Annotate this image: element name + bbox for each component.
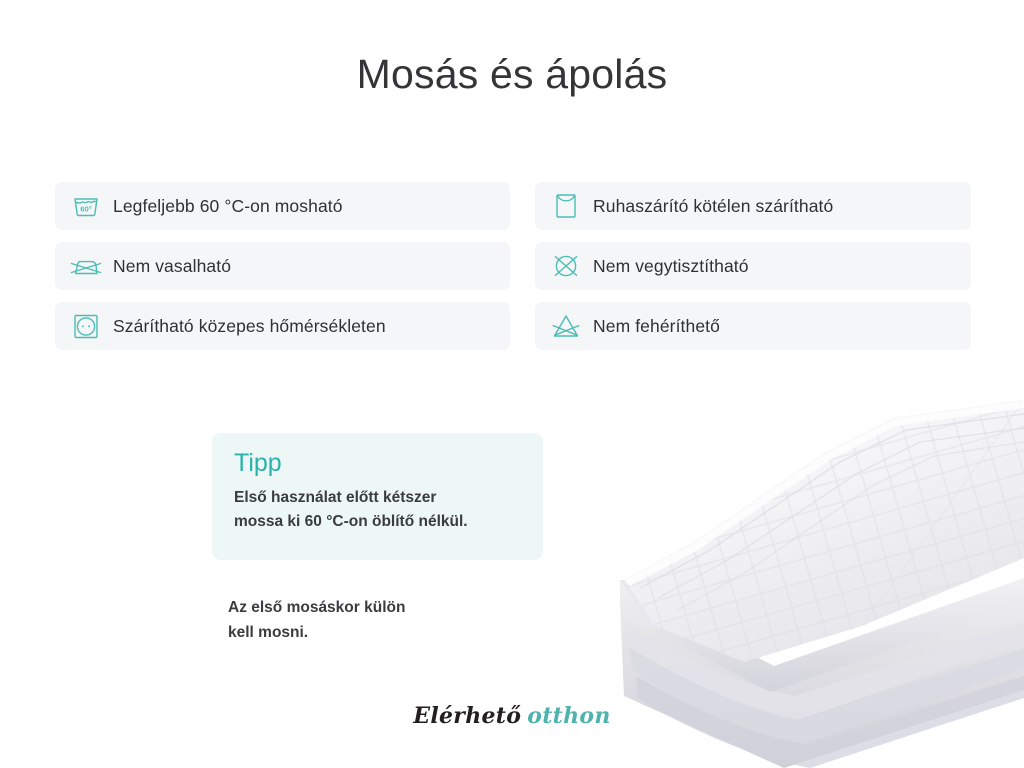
care-label-do-not-bleach: Nem fehéríthető	[535, 302, 971, 350]
tumble-dry-medium-icon	[69, 309, 103, 343]
do-not-dry-clean-icon	[549, 249, 583, 283]
care-label-text: Ruhaszárító kötélen szárítható	[593, 196, 833, 217]
care-label-text: Nem fehéríthető	[593, 316, 720, 337]
brand-logo: Elérhetőotthon	[0, 703, 1024, 729]
care-label-line-dry: Ruhaszárító kötélen szárítható	[535, 182, 971, 230]
care-label-text: Legfeljebb 60 °C-on mosható	[113, 196, 343, 217]
care-label-tumble-dry-medium: Szárítható közepes hőmérsékleten	[55, 302, 510, 350]
care-label-text: Nem vasalható	[113, 256, 231, 277]
care-label-wash-60: 60° Legfeljebb 60 °C-on mosható	[55, 182, 510, 230]
first-wash-note: Az első mosáskor külön kell mosni.	[228, 596, 405, 646]
page-title: Mosás és ápolás	[0, 52, 1024, 97]
tip-title: Tipp	[234, 449, 521, 478]
brand-logo-word-2: otthon	[527, 703, 610, 729]
care-labels-right-column: Ruhaszárító kötélen szárítható Nem vegyt…	[535, 182, 971, 362]
tip-box: Tipp Első használat előtt kétszer mossa …	[212, 433, 543, 560]
do-not-iron-icon	[69, 249, 103, 283]
care-labels-left-column: 60° Legfeljebb 60 °C-on mosható Nem vasa…	[55, 182, 510, 362]
care-label-text: Szárítható közepes hőmérsékleten	[113, 316, 386, 337]
line-dry-icon	[549, 189, 583, 223]
wash-temperature-text: 60°	[80, 204, 91, 213]
tip-body-text: Első használat előtt kétszer mossa ki 60…	[234, 486, 521, 534]
brand-logo-word-1: Elérhető	[413, 703, 521, 729]
care-label-do-not-dry-clean: Nem vegytisztítható	[535, 242, 971, 290]
wash-60-icon: 60°	[69, 189, 103, 223]
care-label-do-not-iron: Nem vasalható	[55, 242, 510, 290]
care-label-text: Nem vegytisztítható	[593, 256, 749, 277]
do-not-bleach-icon	[549, 309, 583, 343]
